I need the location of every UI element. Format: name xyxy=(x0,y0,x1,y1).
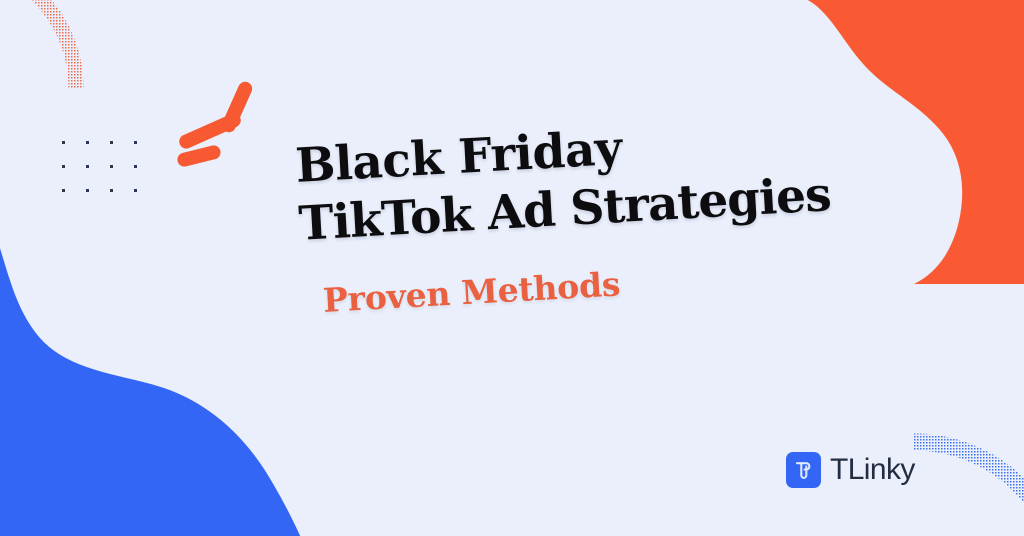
grid-dot xyxy=(62,141,65,144)
grid-dot xyxy=(110,141,113,144)
grid-dot xyxy=(134,189,137,192)
orange-burst-bars xyxy=(186,78,256,166)
grid-dot xyxy=(134,141,137,144)
tlinky-paperclip-t-icon xyxy=(786,452,821,488)
grid-dot xyxy=(86,165,89,168)
subheadline: Proven Methods xyxy=(322,264,621,321)
tlinky-logo: TLinky xyxy=(786,452,915,488)
blue-blob-bottom-left xyxy=(0,230,344,536)
grid-dot xyxy=(62,165,65,168)
grid-dot xyxy=(134,165,137,168)
grid-dot xyxy=(62,189,65,192)
orange-halftone-arc-top-left xyxy=(0,0,142,104)
promo-banner: Black Friday TikTok Ad Strategies Proven… xyxy=(0,0,1024,536)
headline-block: Black Friday TikTok Ad Strategies xyxy=(294,109,820,254)
grid-dot xyxy=(86,189,89,192)
grid-dot xyxy=(110,165,113,168)
grid-dot xyxy=(86,141,89,144)
grid-dot xyxy=(110,189,113,192)
navy-dot-grid xyxy=(62,141,137,192)
tlinky-wordmark: TLinky xyxy=(830,455,915,485)
